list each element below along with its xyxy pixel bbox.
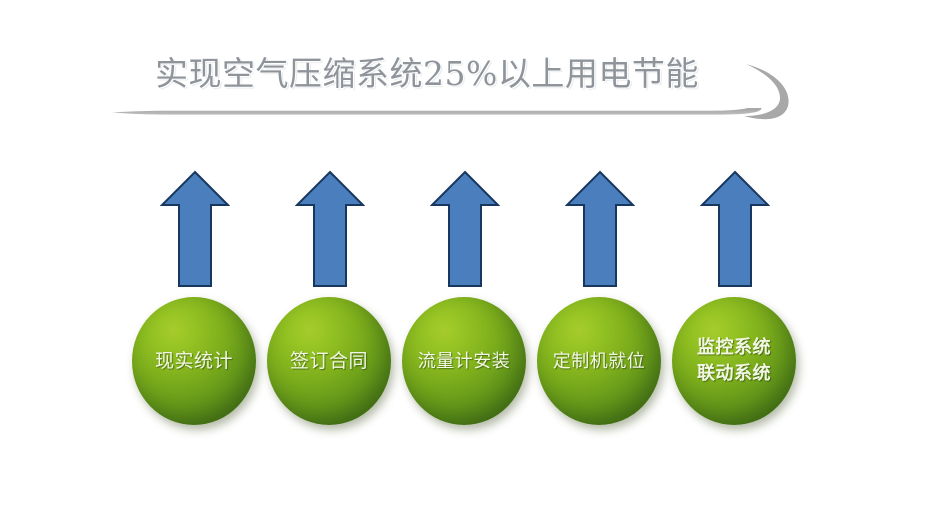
arrow-5 [700,170,770,288]
title-crescent-icon [710,58,810,128]
process-node-4[interactable]: 定制机就位 [537,297,661,425]
process-node-4-label: 定制机就位 [549,349,650,374]
process-node-2-label: 签订合同 [286,349,372,374]
page-title: 实现空气压缩系统25%以上用电节能 [155,48,755,100]
process-node-1-label: 现实统计 [151,349,237,374]
process-node-1[interactable]: 现实统计 [132,297,256,425]
arrow-1 [160,170,230,288]
process-node-5-label: 监控系统 联动系统 [693,335,775,387]
slide-canvas: 实现空气压缩系统25%以上用电节能 现实统 [0,0,945,529]
process-node-3[interactable]: 流量计安装 [402,297,526,425]
process-node-2[interactable]: 签订合同 [267,297,391,425]
process-node-3-label: 流量计安装 [414,349,515,374]
arrow-3 [430,170,500,288]
process-node-5[interactable]: 监控系统 联动系统 [672,297,796,425]
title-block: 实现空气压缩系统25%以上用电节能 [110,34,810,144]
arrow-2 [295,170,365,288]
title-underline-swoosh [110,108,810,120]
arrow-4 [565,170,635,288]
